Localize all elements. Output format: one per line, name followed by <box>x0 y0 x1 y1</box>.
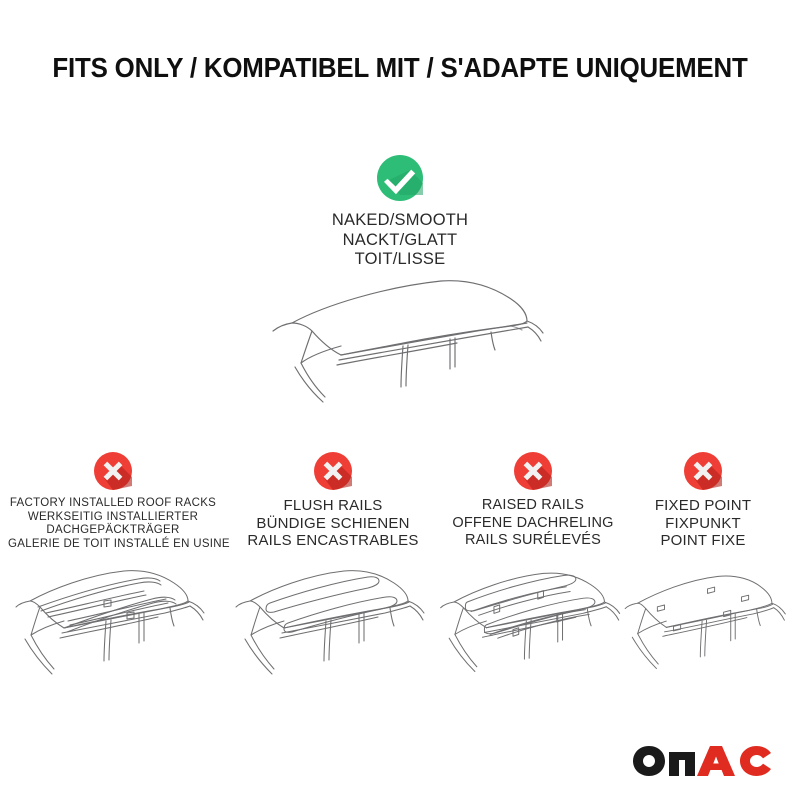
incompatible-item-raised-rails: RAISED RAILS OFFENE DACHRELING RAILS SUR… <box>433 452 633 550</box>
caption-line-fr: RAILS SURÉLEVÉS <box>433 532 633 550</box>
flush-rails-illustration <box>228 557 438 687</box>
caption-line-de: FIXPUNKT <box>618 515 788 533</box>
approved-line-fr: TOIT/LISSE <box>0 250 800 270</box>
incompatible-item-fixed-point: FIXED POINT FIXPUNKT POINT FIXE <box>618 452 788 550</box>
raised-rails-illustration <box>433 557 633 687</box>
omac-brand-logo <box>632 744 772 778</box>
x-circle-icon <box>314 452 352 490</box>
x-circle-icon <box>684 452 722 490</box>
approved-caption: NAKED/SMOOTH NACKT/GLATT TOIT/LISSE <box>0 211 800 270</box>
item-caption: FIXED POINT FIXPUNKT POINT FIXE <box>618 497 788 550</box>
smooth-roof-illustration <box>265 275 595 440</box>
caption-line-de: OFFENE DACHRELING <box>433 515 633 533</box>
caption-line-en: FLUSH RAILS <box>228 497 438 515</box>
caption-line-fr: GALERIE DE TOIT INSTALLÉ EN USINE <box>8 538 218 552</box>
item-caption: RAISED RAILS OFFENE DACHRELING RAILS SUR… <box>433 497 633 550</box>
incompatible-item-factory-installed-roof-racks: FACTORY INSTALLED ROOF RACKS WERKSEITIG … <box>8 452 218 551</box>
caption-line-de-2: DACHGEPÄCKTRÄGER <box>8 524 218 538</box>
check-circle-icon <box>377 155 423 201</box>
caption-line-en: RAISED RAILS <box>433 497 633 515</box>
caption-line-en: FACTORY INSTALLED ROOF RACKS <box>8 497 218 511</box>
caption-line-de-1: WERKSEITIG INSTALLIERTER <box>8 511 218 525</box>
fixed-point-roof-illustration <box>618 557 788 687</box>
caption-line-en: FIXED POINT <box>618 497 788 515</box>
approved-roof-type-block: NAKED/SMOOTH NACKT/GLATT TOIT/LISSE <box>0 155 800 270</box>
item-caption: FACTORY INSTALLED ROOF RACKS WERKSEITIG … <box>8 497 218 551</box>
incompatible-item-flush-rails: FLUSH RAILS BÜNDIGE SCHIENEN RAILS ENCAS… <box>228 452 438 550</box>
x-circle-icon <box>94 452 132 490</box>
x-circle-icon <box>514 452 552 490</box>
fitment-compatibility-infographic: FITS ONLY / KOMPATIBEL MIT / S'ADAPTE UN… <box>0 0 800 800</box>
caption-line-fr: POINT FIXE <box>618 532 788 550</box>
page-title: FITS ONLY / KOMPATIBEL MIT / S'ADAPTE UN… <box>24 52 776 84</box>
incompatible-roof-types-row: FACTORY INSTALLED ROOF RACKS WERKSEITIG … <box>0 452 800 702</box>
item-caption: FLUSH RAILS BÜNDIGE SCHIENEN RAILS ENCAS… <box>228 497 438 550</box>
caption-line-de: BÜNDIGE SCHIENEN <box>228 515 438 533</box>
roof-with-crossbars-illustration <box>8 557 218 687</box>
approved-line-de: NACKT/GLATT <box>0 231 800 251</box>
approved-line-en: NAKED/SMOOTH <box>0 211 800 231</box>
caption-line-fr: RAILS ENCASTRABLES <box>228 532 438 550</box>
